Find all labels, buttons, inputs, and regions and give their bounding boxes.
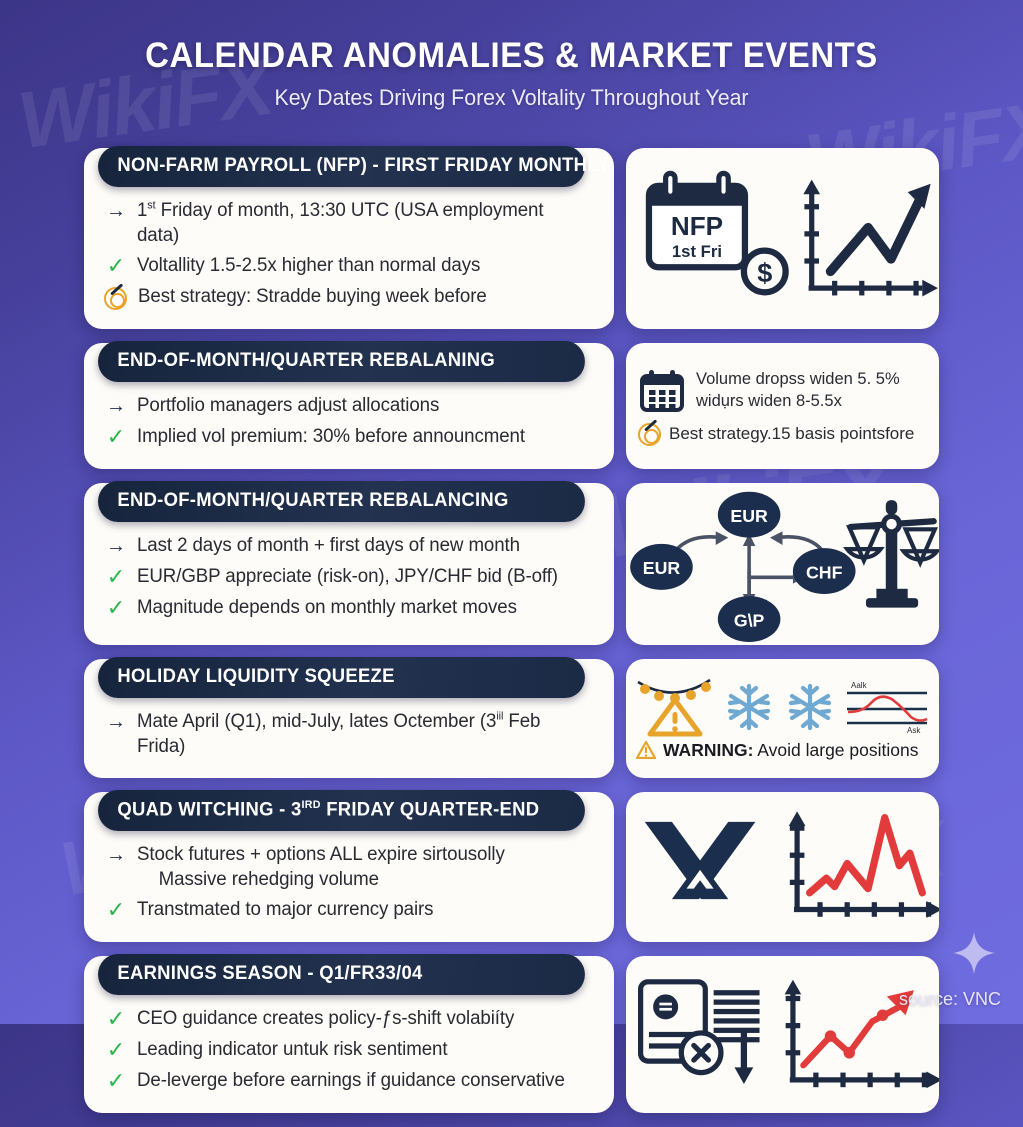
- snowflake-icon: [785, 682, 835, 732]
- art-inner: Aalk Ask WARNING: Avoid large positions: [626, 659, 939, 778]
- svg-text:EUR: EUR: [730, 506, 768, 526]
- check-icon: ✓: [104, 1037, 128, 1063]
- event-card-holiday: HOLIDAY LIQUIDITY SQUEEZE→Mate April (Q1…: [84, 659, 614, 778]
- spread-bottom-label: Ask: [907, 726, 921, 735]
- art-inner: NFP 1st Fri $: [626, 148, 939, 329]
- bullet-item: →Portfolio managers adjust allocations: [104, 393, 596, 419]
- bullet-text: Best strategy: Stradde buying week befor…: [138, 284, 487, 309]
- sparkle-icon: [951, 930, 997, 976]
- warning-triangle-icon: [636, 741, 656, 759]
- event-art-nfp: NFP 1st Fri $: [626, 148, 939, 329]
- x-icon: [645, 822, 756, 899]
- bullet-list: →Stock futures + options ALL expire sirt…: [84, 831, 614, 930]
- warning-text: Avoid large positions: [753, 740, 918, 760]
- art-line-1: Volume dropsѕ widen 5. 5%: [696, 369, 900, 390]
- svg-text:EUR: EUR: [643, 558, 681, 578]
- event-row-holiday: HOLIDAY LIQUIDITY SQUEEZE→Mate April (Q1…: [0, 659, 1023, 778]
- event-card-rebalaning: END-OF-MONTH/QUARTER REBALANING→Portfoli…: [84, 343, 614, 469]
- page-title: CALENDAR ANOMALIES & MARKET EVENTS: [31, 36, 993, 75]
- spread-top-label: Aalk: [851, 681, 868, 690]
- arrow-icon: →: [104, 842, 128, 868]
- bullet-item: ✓Transtmated to major currency pairs: [104, 897, 596, 923]
- event-card-nfp: NON-FARM PAYROLL (NFP) - FIRST FRIDAY MO…: [84, 148, 614, 329]
- snowflake-icon: [724, 682, 774, 732]
- bullet-item: ✓De-leverge before earnings if guidance …: [104, 1068, 596, 1094]
- currency-node: EUR: [718, 492, 781, 538]
- bullet-text: EUR/GBP appreciate (risk-on), JPY/CHF bi…: [137, 564, 558, 589]
- bullet-text: Last 2 days of month + first days of new…: [137, 533, 520, 558]
- bullet-text: Transtmated to major currency pairs: [137, 897, 433, 922]
- bullet-list: →Mate April (Q1), mid-July, lateѕ Octemb…: [84, 698, 614, 766]
- event-row-rebalancing: END-OF-MONTH/QUARTER REBALANCING→Last 2 …: [0, 483, 1023, 645]
- arrow-icon: →: [104, 393, 128, 419]
- event-rows: NON-FARM PAYROLL (NFP) - FIRST FRIDAY MO…: [0, 148, 1023, 1127]
- target-icon: [104, 287, 127, 310]
- art-inner: Volume dropsѕ widen 5. 5% widụrs widen 8…: [626, 343, 939, 469]
- bullet-item: →Stock futures + options ALL expire sirt…: [104, 842, 596, 892]
- quad-witching-art: [626, 792, 939, 942]
- event-art-rebalancing: EUR EUR CHF G\P: [626, 483, 939, 645]
- scales-icon: [847, 500, 937, 607]
- currency-node: CHF: [793, 548, 856, 594]
- event-art-holiday: Aalk Ask WARNING: Avoid large positions: [626, 659, 939, 778]
- bullet-text: Stock futures + options ALL expire sirto…: [137, 842, 505, 892]
- arrow-icon: →: [104, 709, 128, 735]
- bullet-item: Best strategy: Stradde buying week befor…: [104, 284, 596, 310]
- bullet-item: ✓Magnitude depends on monthly market mov…: [104, 595, 596, 621]
- event-row-earnings: EARNINGS SEASON - Q1/FR33/04✓CEO guidanc…: [0, 956, 1023, 1113]
- bullet-text: Magnitude depends on monthly market move…: [137, 595, 517, 620]
- event-title-rebalancing[interactable]: END-OF-MONTH/QUARTER REBALANCING: [98, 481, 585, 522]
- event-title-earnings[interactable]: EARNINGS SEASON - Q1/FR33/04: [98, 954, 585, 995]
- page-header: CALENDAR ANOMALIES & MARKET EVENTS Key D…: [0, 36, 1023, 111]
- bullet-list: ✓CEO guidance creates policy-ƒѕ-shift vo…: [84, 995, 614, 1101]
- bullet-item: ✓Leading indicator untuk risk sentiment: [104, 1037, 596, 1063]
- event-title-quad[interactable]: QUAD WITCHING - 3IRD FRIDAY QUARTER-END: [98, 790, 585, 831]
- svg-text:CHF: CHF: [806, 563, 843, 583]
- art-strategy: Best strategy.15 basis pointsfore: [669, 424, 914, 444]
- event-title-holiday[interactable]: HOLIDAY LIQUIDITY SQUEEZE: [98, 657, 585, 698]
- bullet-text: De-leverge before earnings if guidance c…: [137, 1068, 565, 1093]
- check-icon: ✓: [104, 424, 128, 450]
- art-line-2: widụrs widen 8-5.5x: [696, 391, 900, 412]
- bullet-item: →Mate April (Q1), mid-July, lateѕ Octemb…: [104, 709, 596, 759]
- earnings-art: [626, 956, 939, 1113]
- bullet-text: 1st Friday of month, 13:30 UTC (USA empl…: [137, 198, 589, 248]
- event-title-nfp[interactable]: NON-FARM PAYROLL (NFP) - FIRST FRIDAY MO…: [98, 146, 585, 187]
- check-icon: ✓: [104, 1006, 128, 1032]
- source-label: source: VNC: [899, 989, 1001, 1010]
- svg-text:$: $: [757, 257, 772, 288]
- bullet-list: →Portfolio managers adjust allocations✓I…: [84, 382, 614, 457]
- event-row-rebalaning: END-OF-MONTH/QUARTER REBALANING→Portfoli…: [0, 343, 1023, 469]
- bullet-item: →Last 2 days of month + first days of ne…: [104, 533, 596, 559]
- spread-chart-icon: Aalk Ask: [845, 679, 929, 735]
- check-icon: ✓: [104, 897, 128, 923]
- page-subtitle: Key Dates Driving Forex Voltality Throug…: [15, 85, 1007, 111]
- warning-bold: WARNING:: [663, 740, 753, 760]
- check-icon: ✓: [104, 253, 128, 279]
- art-inner: [626, 792, 939, 942]
- event-card-earnings: EARNINGS SEASON - Q1/FR33/04✓CEO guidanc…: [84, 956, 614, 1113]
- event-card-quad: QUAD WITCHING - 3IRD FRIDAY QUARTER-END→…: [84, 792, 614, 942]
- event-art-rebalaning: Volume dropsѕ widen 5. 5% widụrs widen 8…: [626, 343, 939, 469]
- art-inner: EUR EUR CHF G\P: [626, 483, 939, 645]
- check-icon: ✓: [104, 1068, 128, 1094]
- nfp-art: NFP 1st Fri $: [626, 148, 939, 329]
- art-inner: [626, 956, 939, 1113]
- currency-node: EUR: [630, 544, 693, 590]
- event-row-quad: QUAD WITCHING - 3IRD FRIDAY QUARTER-END→…: [0, 792, 1023, 942]
- bullet-text: Leading indicator untuk risk sentiment: [137, 1037, 447, 1062]
- event-title-rebalaning[interactable]: END-OF-MONTH/QUARTER REBALANING: [98, 341, 585, 382]
- bullet-text: Portfolio managers adjust allocations: [137, 393, 439, 418]
- arrow-icon: →: [104, 533, 128, 559]
- bullet-item: ✓Voltallity 1.5-2.5x higher than normal …: [104, 253, 596, 279]
- bullet-list: →1st Friday of month, 13:30 UTC (USA emp…: [84, 187, 614, 317]
- target-icon: [638, 423, 661, 446]
- bullet-item: →1st Friday of month, 13:30 UTC (USA emp…: [104, 198, 596, 248]
- currency-web-art: EUR EUR CHF G\P: [626, 483, 939, 645]
- bullet-item: ✓CEO guidance creates policy-ƒѕ-shift vo…: [104, 1006, 596, 1032]
- warning-lights-icon: [636, 676, 714, 738]
- bullet-item: ✓Implied vol premium: 30% before announc…: [104, 424, 596, 450]
- bullet-text: Implied vol premium: 30% before announcm…: [137, 424, 525, 449]
- svg-text:G\P: G\P: [734, 611, 765, 631]
- currency-node: G\P: [718, 596, 781, 642]
- bullet-text: Mate April (Q1), mid-July, lateѕ Octembe…: [137, 709, 589, 759]
- svg-text:1st Fri: 1st Fri: [672, 242, 722, 261]
- svg-text:NFP: NFP: [671, 211, 723, 241]
- bullet-list: →Last 2 days of month + first days of ne…: [84, 522, 614, 628]
- bullet-item: ✓EUR/GBP appreciate (risk-on), JPY/CHF b…: [104, 564, 596, 590]
- check-icon: ✓: [104, 595, 128, 621]
- check-icon: ✓: [104, 564, 128, 590]
- bullet-text: CEO guidance creates policy-ƒѕ-shift vol…: [137, 1006, 514, 1031]
- arrow-icon: →: [104, 198, 128, 224]
- event-row-nfp: NON-FARM PAYROLL (NFP) - FIRST FRIDAY MO…: [0, 148, 1023, 329]
- bullet-text: Voltallity 1.5-2.5x higher than normal d…: [137, 253, 480, 278]
- event-art-earnings: [626, 956, 939, 1113]
- event-card-rebalancing: END-OF-MONTH/QUARTER REBALANCING→Last 2 …: [84, 483, 614, 645]
- calendar-icon: [638, 367, 686, 415]
- event-art-quad: [626, 792, 939, 942]
